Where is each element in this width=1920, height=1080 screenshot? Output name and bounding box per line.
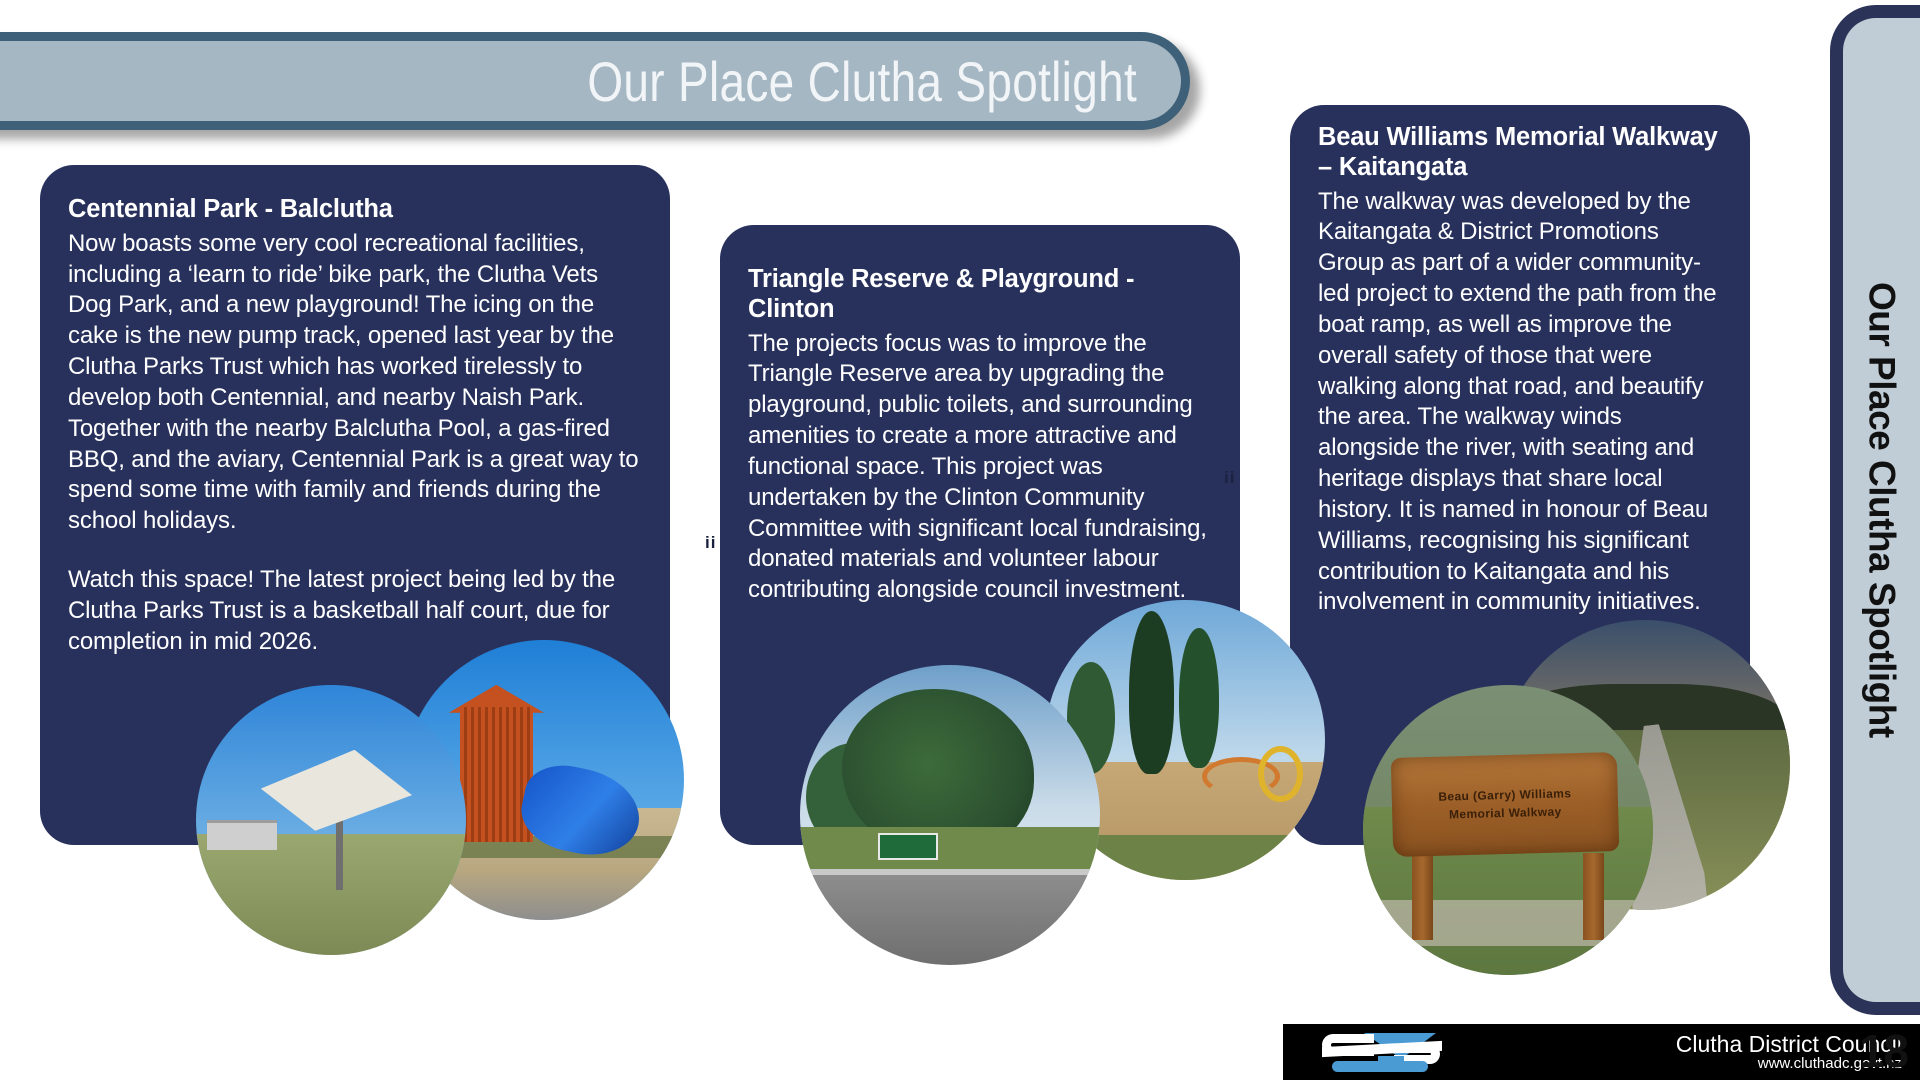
gutter-mark-1: ii xyxy=(705,533,716,553)
sign-post-right xyxy=(1583,853,1603,940)
sign-post-left xyxy=(1412,853,1432,940)
cdc-bridge-logo-icon xyxy=(1316,1030,1456,1074)
card-heading-centennial: Centennial Park - Balclutha xyxy=(68,195,642,225)
photo-building xyxy=(207,820,277,850)
photo-centennial-shade-sail xyxy=(196,685,466,955)
photo-road xyxy=(800,875,1100,965)
reserve-sign xyxy=(878,833,938,860)
sign-line-2: Memorial Walkway xyxy=(1449,802,1562,823)
playground-tower xyxy=(460,707,533,841)
page-title: Our Place Clutha Spotlight xyxy=(587,49,1181,114)
card-paragraph-triangle-1: The projects focus was to improve the Tr… xyxy=(748,329,1212,606)
card-heading-triangle: Triangle Reserve & Playground - Clinton xyxy=(748,265,1212,325)
side-tab-label: Our Place Clutha Spotlight xyxy=(1861,282,1903,738)
page-footer: Clutha District Council www.cluthadc.gov… xyxy=(1283,1024,1920,1080)
section-side-tab: Our Place Clutha Spotlight xyxy=(1830,5,1920,1015)
photo-clinton-street xyxy=(800,665,1100,965)
header-banner: Our Place Clutha Spotlight xyxy=(0,32,1190,130)
photo-ground xyxy=(196,834,466,956)
page-number: 18 xyxy=(1859,1024,1908,1078)
photo-gravel xyxy=(1363,900,1653,946)
card-paragraph-walkway-1: The walkway was developed by the Kaitang… xyxy=(1318,187,1722,619)
card-paragraph-centennial-1: Now boasts some very cool recreational f… xyxy=(68,229,642,537)
page-root: Our Place Clutha Spotlight Centennial Pa… xyxy=(0,0,1920,1080)
photo-verge xyxy=(800,827,1100,875)
playground-ring xyxy=(1258,746,1303,802)
photo-kaitangata-sign: Beau (Garry) Williams Memorial Walkway xyxy=(1363,685,1653,975)
gutter-mark-2: ii xyxy=(1224,468,1235,488)
card-heading-walkway: Beau Williams Memorial Walkway – Kaitang… xyxy=(1318,123,1722,183)
banner-body: Our Place Clutha Spotlight xyxy=(0,32,1190,130)
wooden-sign-board: Beau (Garry) Williams Memorial Walkway xyxy=(1391,752,1620,856)
photo-tree xyxy=(1179,628,1218,768)
photo-tree xyxy=(1129,611,1174,773)
